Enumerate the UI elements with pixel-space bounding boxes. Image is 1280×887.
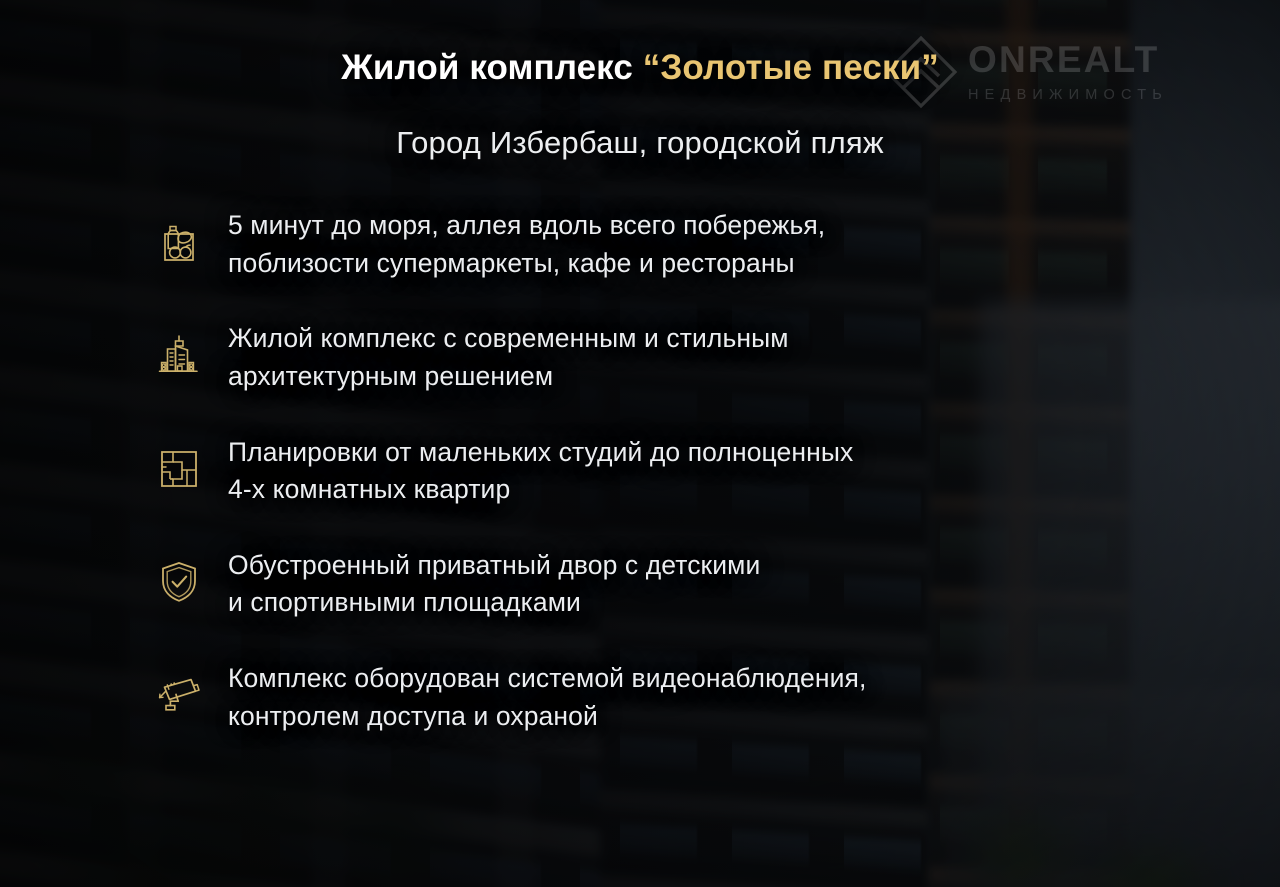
feature-line: архитектурным решением <box>228 358 789 396</box>
page-title-plain: Жилой комплекс <box>341 48 643 87</box>
cctv-camera-icon <box>152 666 206 724</box>
page-title: Жилой комплекс “Золотые пески” <box>0 48 1280 88</box>
feature-text: Комплекс оборудован системой видеонаблюд… <box>228 658 866 735</box>
promo-slide: ONREALT НЕДВИЖИМОСТЬ Жилой комплекс “Зол… <box>0 0 1280 887</box>
page-subtitle: Город Избербаш, городской пляж <box>0 125 1280 161</box>
shield-check-icon <box>152 553 206 611</box>
feature-text: Планировки от маленьких студий до полноц… <box>228 432 853 509</box>
feature-line: контролем доступа и охраной <box>228 698 866 736</box>
feature-item: Обустроенный приватный двор с детскими и… <box>152 545 1220 622</box>
buildings-icon <box>152 326 206 384</box>
feature-text: Обустроенный приватный двор с детскими и… <box>228 545 760 622</box>
feature-list: 5 минут до моря, аллея вдоль всего побер… <box>152 205 1220 735</box>
feature-line: 5 минут до моря, аллея вдоль всего побер… <box>228 207 825 245</box>
feature-text: Жилой комплекс с современным и стильным … <box>228 318 789 395</box>
feature-line: Комплекс оборудован системой видеонаблюд… <box>228 660 866 698</box>
page-title-accent: “Золотые пески” <box>643 48 939 87</box>
feature-text: 5 минут до моря, аллея вдоль всего побер… <box>228 205 825 282</box>
feature-item: Планировки от маленьких студий до полноц… <box>152 432 1220 509</box>
feature-item: Комплекс оборудован системой видеонаблюд… <box>152 658 1220 735</box>
feature-line: Планировки от маленьких студий до полноц… <box>228 434 853 472</box>
feature-line: Обустроенный приватный двор с детскими <box>228 547 760 585</box>
feature-line: 4-х комнатных квартир <box>228 471 853 509</box>
feature-line: и спортивными площадками <box>228 584 760 622</box>
floor-plan-icon <box>152 440 206 498</box>
feature-item: Жилой комплекс с современным и стильным … <box>152 318 1220 395</box>
feature-line: поблизости супермаркеты, кафе и ресторан… <box>228 245 825 283</box>
feature-line: Жилой комплекс с современным и стильным <box>228 320 789 358</box>
feature-item: 5 минут до моря, аллея вдоль всего побер… <box>152 205 1220 282</box>
grocery-bag-icon <box>152 213 206 271</box>
